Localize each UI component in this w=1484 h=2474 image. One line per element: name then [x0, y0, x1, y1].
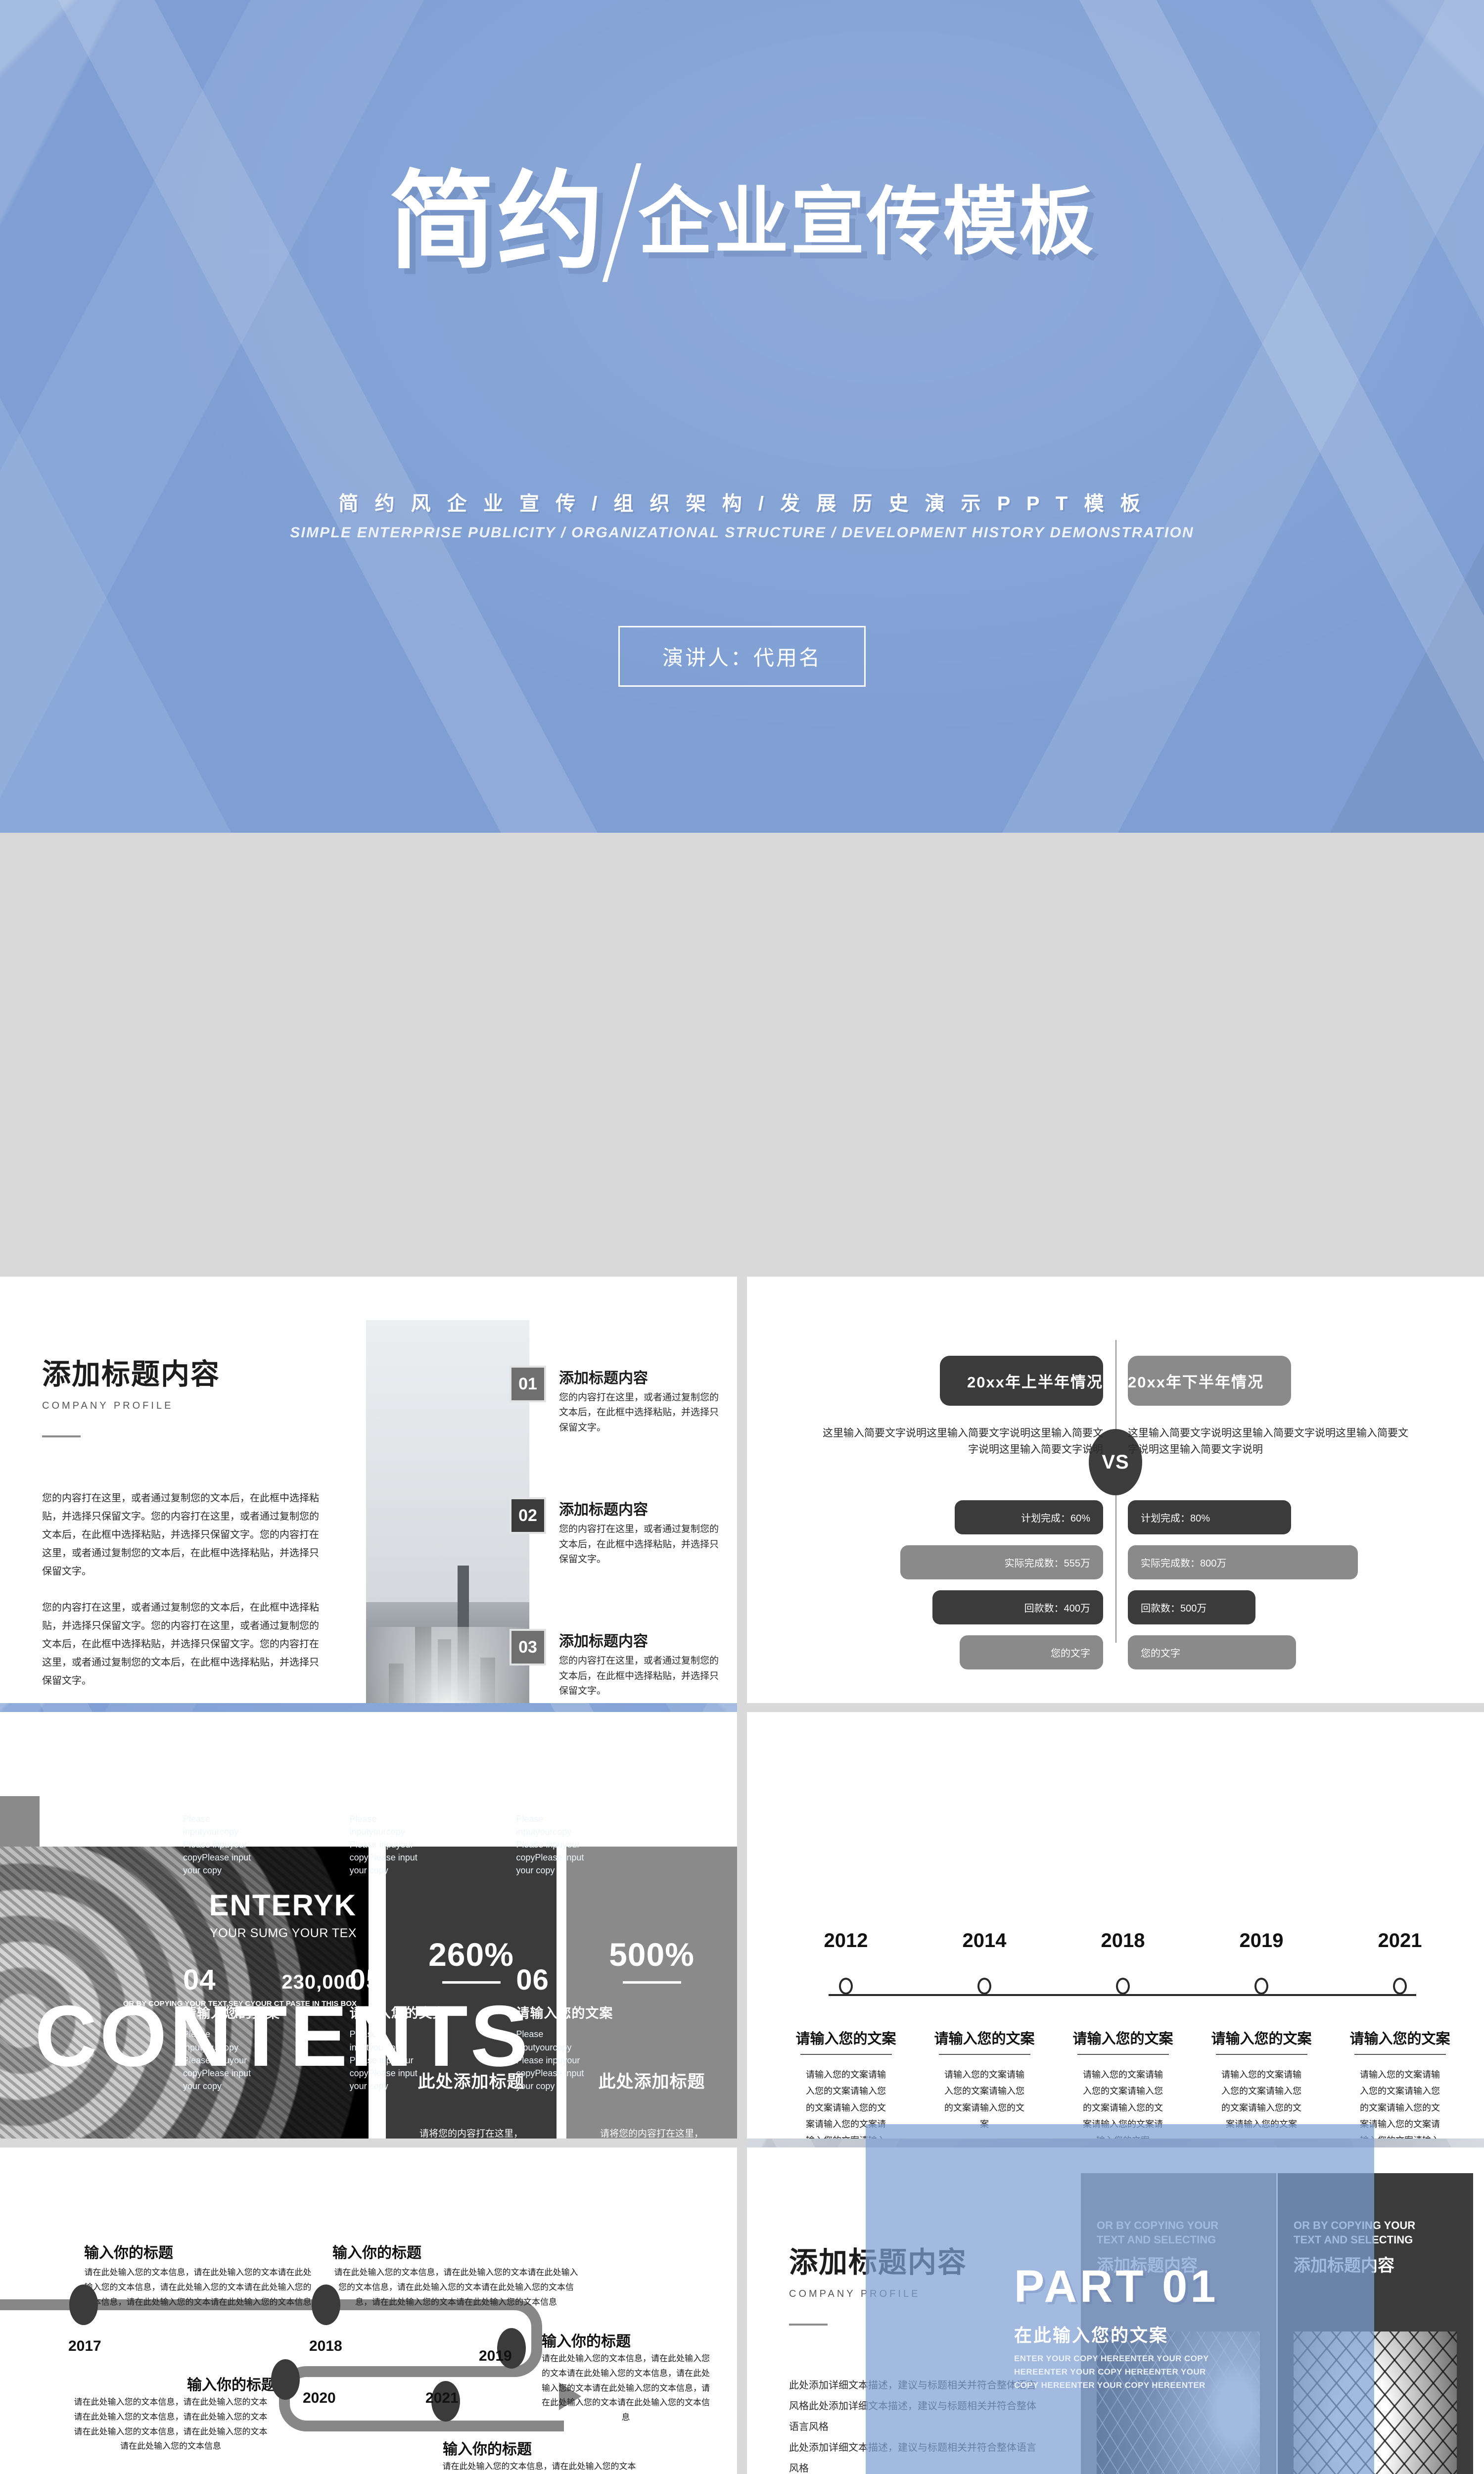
list-item[interactable]: 03 添加标题内容 您的内容打在这里，或者通过复制您的文本后，在此框中选择粘贴，…: [510, 1629, 722, 1699]
timeline-rule: [1077, 2054, 1169, 2055]
timeline-heading: 请输入您的文案: [915, 2027, 1054, 2048]
profile-body: 您的内容打在这里，或者通过复制您的文本后，在此框中选择粘贴，并选择只保留文字。您…: [42, 1489, 319, 1690]
item-body: 您的内容打在这里，或者通过复制您的文本后，在此框中选择粘贴，并选择只保留文字。: [559, 1522, 722, 1567]
timeline-rule: [939, 2054, 1030, 2055]
snake-year: 2020: [303, 2390, 336, 2407]
item-body: 您的内容打在这里，或者通过复制您的文本后，在此框中选择粘贴，并选择只保留文字。: [559, 1390, 722, 1435]
contents-item[interactable]: 02 请输入您的文案 Please inputyourcopy Please i…: [350, 1751, 516, 1877]
title-sub-cn: 企业宣传模板: [638, 180, 1095, 263]
section-part-label: PART 01: [1014, 2264, 1227, 2309]
timeline-entry[interactable]: 2012 请输入您的文案 请输入您的文案请输入您的文案请输入您的文案请输入您的文…: [777, 1930, 915, 2139]
snake-heading: 输入你的标题: [443, 2437, 532, 2459]
list-item[interactable]: 01 添加标题内容 您的内容打在这里，或者通过复制您的文本后，在此框中选择粘贴，…: [510, 1366, 722, 1435]
comparison-right-pill: 20xx年下半年情况: [1128, 1356, 1291, 1406]
title-main-cn: 简约: [389, 162, 605, 281]
comparison-right-column: 20xx年下半年情况 这里输入简要文字说明这里输入简要文字说明这里输入简要文字说…: [1128, 1356, 1410, 1680]
list-item[interactable]: 02 添加标题内容 您的内容打在这里，或者通过复制您的文本后，在此框中选择粘贴，…: [510, 1497, 722, 1567]
metric-bar: 实际完成数：555万: [900, 1545, 1103, 1579]
metric-bar: 回款数：500万: [1128, 1590, 1255, 1624]
snake-heading: 输入你的标题: [84, 2240, 173, 2262]
snake-body: 请在此处输入您的文本信息，请在此处输入您的文本请在此处输入您的文本信息，请在此处…: [542, 2351, 710, 2425]
stat-body: 请将您的内容打在这里，或者通过复制您的文本后，在此框中选择粘贴，并选择只保留文字…: [417, 2126, 526, 2139]
brand-name: ENTERYK: [123, 1888, 357, 1922]
hero-note: OR BY COPYING YOUR TEXT,SEY CYOUR CT PAS…: [123, 1998, 357, 2009]
snake-year: 2019: [479, 2348, 512, 2365]
contents-item-number: 06: [516, 1966, 683, 1995]
snake-node: [312, 2284, 340, 2325]
title-block: 简约企业宣传模板: [0, 163, 1484, 282]
brand-tagline: YOUR SUMG YOUR TEX: [123, 1926, 357, 1941]
snake-body: 请在此处输入您的文本信息，请在此处输入您的文本请在此处输入您的文本信息，请在此处…: [332, 2265, 580, 2309]
title-divider: [42, 1435, 81, 1437]
corner-bracket-icon: [1474, 2412, 1484, 2436]
slide-timeline-snake[interactable]: 2017 2018 2019 2020 2021 输入你的标题 请在此处输入您的…: [0, 2147, 737, 2474]
title-divider: [789, 2324, 828, 2326]
timeline-dot-icon: [839, 1978, 853, 1995]
timeline-dot-icon: [1393, 1978, 1407, 1995]
metric-bar: 回款数：400万: [932, 1590, 1103, 1624]
hero-number: 230,000: [123, 1971, 357, 1994]
metric-bar: 您的文字: [960, 1635, 1103, 1669]
title-subtitle-en: SIMPLE ENTERPRISE PUBLICITY / ORGANIZATI…: [0, 524, 1484, 541]
snake-year: 2021: [425, 2390, 459, 2407]
snake-node: [271, 2359, 300, 2400]
page-subtitle: COMPANY PROFILE: [42, 1400, 319, 1412]
contents-item-heading: 请输入您的文案: [350, 1787, 516, 1807]
contents-item-heading: 请输入您的文案: [516, 2002, 683, 2022]
contents-item-number: 03: [516, 1751, 683, 1779]
timeline-rule: [1216, 2054, 1307, 2055]
timeline-rule: [800, 2054, 892, 2055]
slide-company-profile[interactable]: 添加标题内容 COMPANY PROFILE 您的内容打在这里，或者通过复制您的…: [0, 1277, 737, 1703]
snake-body: 请在此处输入您的文本信息，请在此处输入您的文本请在此处输入您的文本信息，请在此处…: [72, 2395, 270, 2454]
speaker-box[interactable]: 演讲人：代用名: [618, 626, 866, 687]
comparison-right-desc: 这里输入简要文字说明这里输入简要文字说明这里输入简要文字说明这里输入简要文字说明: [1128, 1426, 1410, 1458]
item-number-badge: 01: [510, 1366, 546, 1402]
timeline-columns: 2012 请输入您的文案 请输入您的文案请输入您的文案请输入您的文案请输入您的文…: [777, 1930, 1469, 2139]
contents-item-heading: 请输入您的文案: [183, 1787, 350, 1807]
contents-item[interactable]: 01 请输入您的文案 Please inputyourcopy Please i…: [183, 1751, 350, 1877]
sky-layer: [366, 1320, 529, 1602]
metric-bar: 计划完成：60%: [955, 1500, 1103, 1534]
snake-body: 请在此处输入您的文本信息，请在此处输入您的文本请在此处输入您的文本信息，请在此处…: [440, 2459, 638, 2474]
stat-body: 请将您的内容打在这里，或者通过复制您的文本后，在此框中选择粘贴，并选择只保留文字…: [597, 2126, 707, 2139]
item-heading: 添加标题内容: [559, 1497, 722, 1519]
slide-comparison[interactable]: VS 20xx年上半年情况 这里输入简要文字说明这里输入简要文字说明这里输入简要…: [747, 1277, 1484, 1703]
timeline-year: 2019: [1192, 1930, 1331, 1952]
slide-deck: 简约企业宣传模板 简 约 风 企 业 宣 传 / 组 织 架 构 / 发 展 历…: [0, 0, 1484, 2474]
snake-year: 2017: [68, 2338, 101, 2355]
comparison-left-pill: 20xx年上半年情况: [940, 1356, 1103, 1406]
snake-heading: 输入你的标题: [187, 2373, 276, 2394]
profile-text-column: 添加标题内容 COMPANY PROFILE 您的内容打在这里，或者通过复制您的…: [42, 1351, 319, 1690]
contents-item-number: 02: [350, 1751, 516, 1779]
snake-heading: 输入你的标题: [542, 2329, 631, 2351]
city-skyline-image: [366, 1320, 529, 1703]
snake-year: 2018: [309, 2338, 342, 2355]
contents-item-body: Please inputyourcopy Please inpuyour cop…: [183, 1812, 267, 1877]
contents-item[interactable]: 06 请输入您的文案 Please inputyourcopy Please i…: [516, 1966, 683, 2092]
timeline-year: 2021: [1331, 1930, 1469, 1952]
snake-body: 请在此处输入您的文本信息，请在此处输入您的文本请在此处输入您的文本信息，请在此处…: [84, 2265, 312, 2309]
contents-item-heading: 请输入您的文案: [516, 1787, 683, 1807]
snake-heading: 输入你的标题: [332, 2240, 421, 2262]
timeline-body: 请输入您的文案请输入您的文案请输入您的文案请输入您的文案: [941, 2067, 1028, 2133]
timeline-body: 请输入您的文案请输入您的文案请输入您的文案请输入您的文案请输入您的文案: [1218, 2067, 1305, 2133]
title-slash-divider: [603, 163, 642, 282]
section-text-block: PART 01 在此输入您的文案 ENTER YOUR COPY HEREENT…: [1014, 2264, 1227, 2392]
timeline-entry[interactable]: 2018 请输入您的文案 请输入您的文案请输入您的文案请输入您的文案请输入您的文…: [1054, 1930, 1192, 2139]
timeline-heading: 请输入您的文案: [1331, 2027, 1469, 2048]
comparison-right-bars: 计划完成：80% 实际完成数：800万 回款数：500万 您的文字: [1128, 1500, 1410, 1669]
hero-text-block: ENTERYK YOUR SUMG YOUR TEX 230,000 OR BY…: [123, 1888, 357, 2009]
timeline-dot-icon: [1254, 1978, 1268, 1995]
fog-layer: [366, 1627, 529, 1703]
timeline-heading: 请输入您的文案: [1054, 2027, 1192, 2048]
contents-item-body: Please inputyourcopy Please inpuyour cop…: [350, 1812, 434, 1877]
item-body: 您的内容打在这里，或者通过复制您的文本后，在此框中选择粘贴，并选择只保留文字。: [559, 1654, 722, 1699]
section-body-en: ENTER YOUR COPY HEREENTER YOUR COPY HERE…: [1014, 2352, 1227, 2392]
timeline-year: 2018: [1054, 1930, 1192, 1952]
timeline-dot-icon: [977, 1978, 991, 1995]
timeline-entry[interactable]: 2014 请输入您的文案 请输入您的文案请输入您的文案请输入您的文案请输入您的文…: [915, 1930, 1054, 2139]
profile-paragraph: 您的内容打在这里，或者通过复制您的文本后，在此框中选择粘贴，并选择只保留文字。您…: [42, 1599, 319, 1690]
item-heading: 添加标题内容: [559, 1366, 722, 1387]
slide-title[interactable]: 简约企业宣传模板 简 约 风 企 业 宣 传 / 组 织 架 构 / 发 展 历…: [0, 0, 1484, 833]
timeline-entry[interactable]: 2021 请输入您的文案 请输入您的文案请输入您的文案请输入您的文案请输入您的文…: [1331, 1930, 1469, 2139]
timeline-year: 2012: [777, 1930, 915, 1952]
comparison-left-desc: 这里输入简要文字说明这里输入简要文字说明这里输入简要文字说明这里输入简要文字说明: [821, 1426, 1103, 1458]
page-title: 添加标题内容: [42, 1351, 319, 1392]
contents-item-body: Please inputyourcopy Please inpuyour cop…: [516, 1812, 600, 1877]
snake-node: [69, 2284, 98, 2325]
item-number-badge: 03: [510, 1629, 546, 1665]
metric-bar: 实际完成数：800万: [1128, 1545, 1358, 1579]
timeline-year: 2014: [915, 1930, 1054, 1952]
profile-paragraph: 您的内容打在这里，或者通过复制您的文本后，在此框中选择粘贴，并选择只保留文字。您…: [42, 1489, 319, 1581]
metric-bar: 计划完成：80%: [1128, 1500, 1291, 1534]
item-heading: 添加标题内容: [559, 1629, 722, 1651]
item-number-badge: 02: [510, 1497, 546, 1534]
comparison-left-column: 20xx年上半年情况 这里输入简要文字说明这里输入简要文字说明这里输入简要文字说…: [821, 1356, 1103, 1680]
timeline-entry[interactable]: 2019 请输入您的文案 请输入您的文案请输入您的文案请输入您的文案请输入您的文…: [1192, 1930, 1331, 2139]
section-heading-cn: 在此输入您的文案: [1014, 2321, 1227, 2347]
timeline-heading: 请输入您的文案: [1192, 2027, 1331, 2048]
slide-timeline-linear[interactable]: 2012 请输入您的文案 请输入您的文案请输入您的文案请输入您的文案请输入您的文…: [747, 1712, 1484, 2139]
contents-item[interactable]: 03 请输入您的文案 Please inputyourcopy Please i…: [516, 1751, 683, 1877]
profile-numbered-list: 01 添加标题内容 您的内容打在这里，或者通过复制您的文本后，在此框中选择粘贴，…: [510, 1366, 722, 1703]
comparison-left-bars: 计划完成：60% 实际完成数：555万 回款数：400万 您的文字: [821, 1500, 1103, 1669]
timeline-rule: [1354, 2054, 1446, 2055]
metric-bar: 您的文字: [1128, 1635, 1296, 1669]
timeline-heading: 请输入您的文案: [777, 2027, 915, 2048]
contents-item-number: 01: [183, 1751, 350, 1779]
title-subtitle-cn: 简 约 风 企 业 宣 传 / 组 织 架 构 / 发 展 历 史 演 示 P …: [0, 487, 1484, 516]
timeline-dot-icon: [1116, 1978, 1130, 1995]
